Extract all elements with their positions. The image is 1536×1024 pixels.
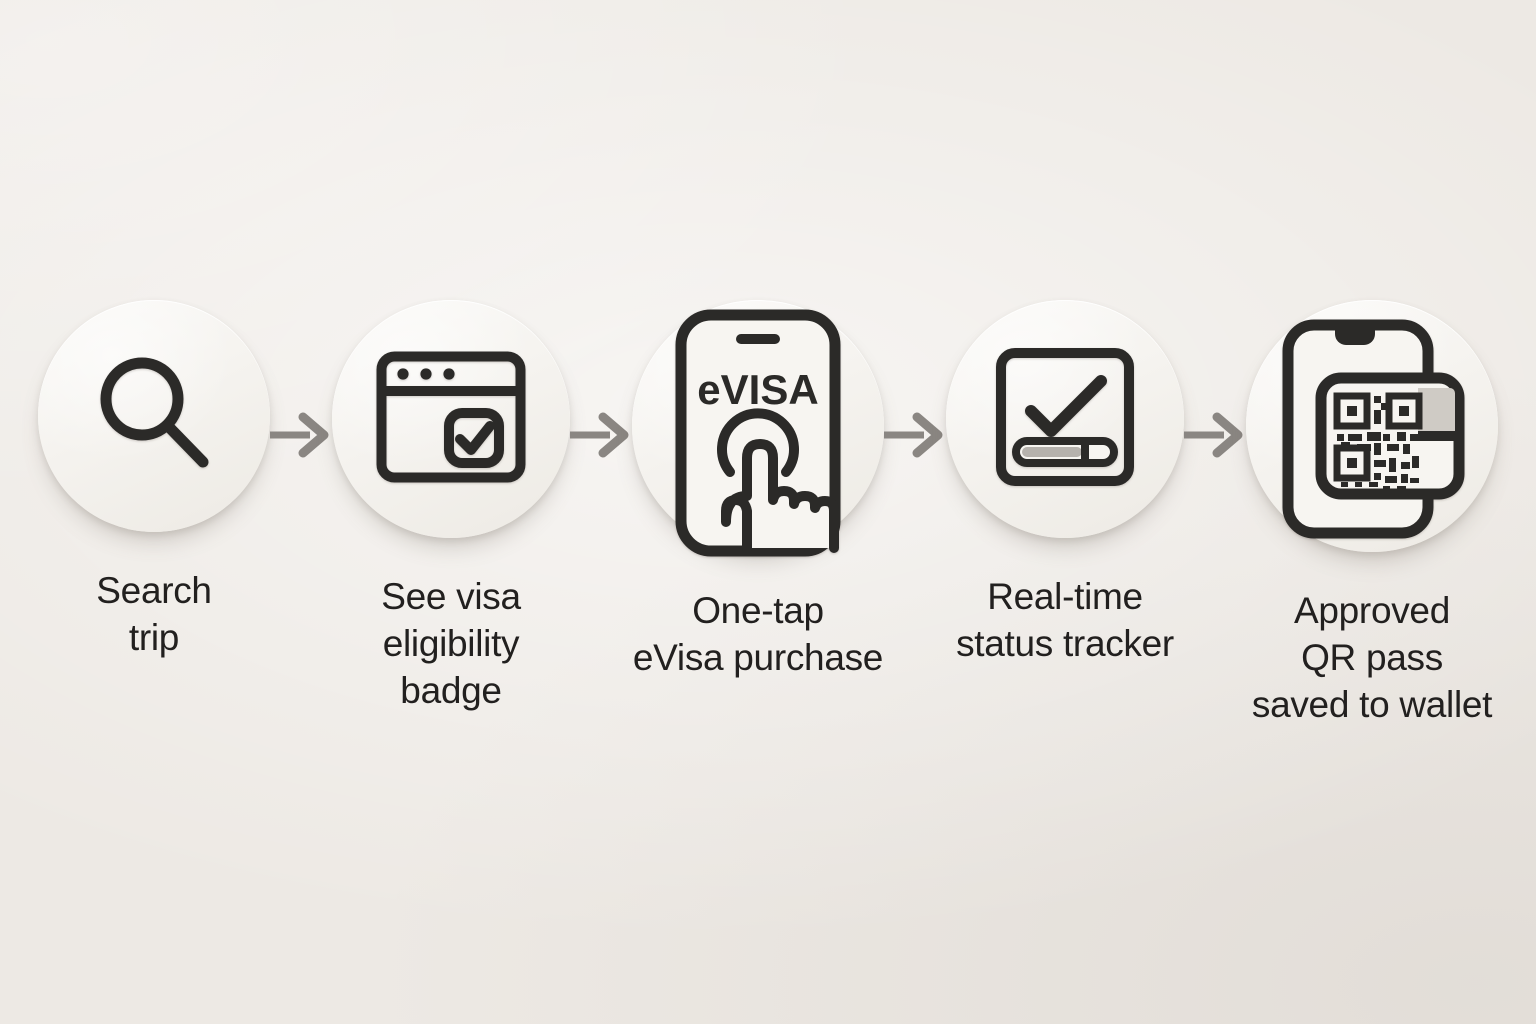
connector-arrow-1 (270, 412, 332, 458)
step-icon-disc[interactable] (946, 300, 1184, 538)
flow-step-approved-qr-pass[interactable]: Approved QR pass saved to wallet (1246, 300, 1498, 729)
step-icon-disc[interactable] (38, 300, 270, 532)
arrow-right-icon (570, 412, 632, 458)
step-icon-disc[interactable] (332, 300, 570, 538)
flow-diagram: Search trip See (0, 300, 1536, 800)
step-caption: Search trip (96, 568, 211, 662)
browser-window-check-icon (376, 351, 526, 488)
flow-step-one-tap-evisa-purchase[interactable]: eVISA One-tap eVisa purchase (632, 300, 884, 682)
flow-step-realtime-status-tracker[interactable]: Real-time status tracker (946, 300, 1184, 668)
step-icon-disc[interactable]: eVISA (632, 300, 884, 552)
step-caption: See visa eligibility badge (381, 574, 521, 715)
connector-arrow-3 (884, 412, 946, 458)
step-icon-disc[interactable] (1246, 300, 1498, 552)
step-caption: One-tap eVisa purchase (633, 588, 883, 682)
arrow-right-icon (1184, 412, 1246, 458)
phone-tap-evisa-icon: eVISA (674, 308, 842, 563)
flow-step-visa-eligibility-badge[interactable]: See visa eligibility badge (332, 300, 570, 715)
step-caption: Real-time status tracker (956, 574, 1174, 668)
step-caption: Approved QR pass saved to wallet (1252, 588, 1492, 729)
connector-arrow-4 (1184, 412, 1246, 458)
arrow-right-icon (270, 412, 332, 458)
connector-arrow-2 (570, 412, 632, 458)
progress-fill (1022, 447, 1082, 457)
evisa-screen-label: eVISA (697, 366, 818, 413)
search-icon (87, 347, 221, 486)
status-tracker-progress-icon (995, 347, 1135, 492)
qr-wallet-pass-icon (1279, 316, 1465, 547)
flow-step-search-trip[interactable]: Search trip (38, 300, 270, 662)
arrow-right-icon (884, 412, 946, 458)
